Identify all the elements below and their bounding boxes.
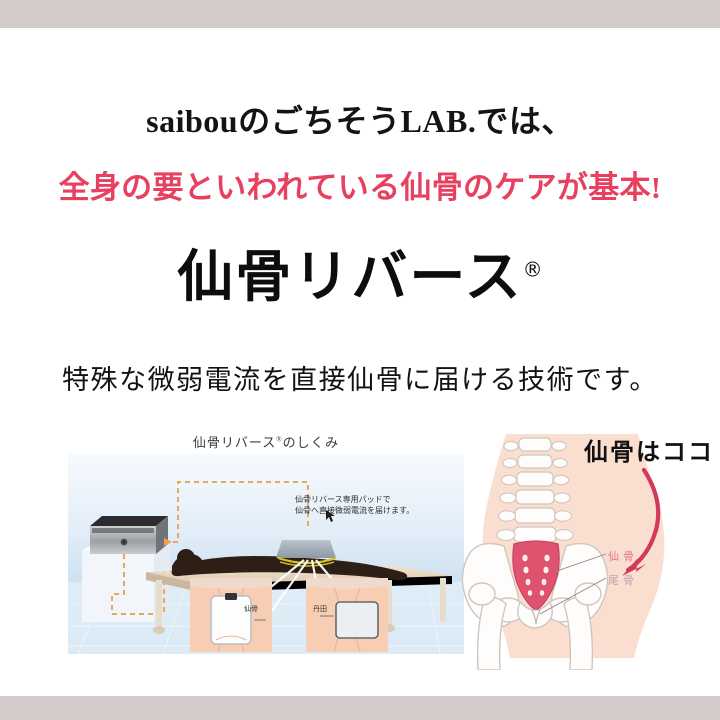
inset-tanden bbox=[306, 578, 388, 652]
diagram-artwork bbox=[68, 454, 464, 654]
anatomy-label-sacrum: 仙骨 bbox=[608, 548, 638, 564]
pad-annotation: 仙骨リバース専用パッドで 仙骨へ直接微弱電流を届けます。 bbox=[295, 494, 414, 516]
stimulator-device bbox=[90, 516, 168, 554]
diagram-title-brand: 仙骨リバース bbox=[193, 435, 276, 450]
pad-annotation-line-1: 仙骨リバース専用パッドで bbox=[295, 494, 414, 505]
diagram-stage: 仙骨リバース専用パッドで 仙骨へ直接微弱電流を届けます。 仙骨 丹田 bbox=[68, 454, 464, 654]
mechanism-diagram: 仙骨リバース®のしくみ bbox=[68, 432, 464, 654]
registered-trademark-icon: ® bbox=[523, 257, 543, 281]
top-band bbox=[0, 0, 720, 28]
inset-sacrum bbox=[190, 578, 272, 652]
heading-line-1: saibouのごちそうLAB.では、 bbox=[0, 96, 720, 142]
subtitle-handwritten: 特殊な微弱電流を直接仙骨に届ける技術です。 bbox=[0, 358, 720, 397]
diagram-title: 仙骨リバース®のしくみ bbox=[68, 432, 464, 451]
bottom-band bbox=[0, 696, 720, 720]
pad-annotation-line-2: 仙骨へ直接微弱電流を届けます。 bbox=[295, 505, 414, 516]
anatomy-label-coccyx: 尾骨 bbox=[608, 572, 638, 588]
brand-title-text: 仙骨リバース bbox=[177, 245, 522, 310]
inset-label-tanden: 丹田 bbox=[313, 604, 327, 614]
infographic-page: saibouのごちそうLAB.では、 全身の要といわれている仙骨のケアが基本! … bbox=[0, 0, 720, 720]
diagram-title-suffix: のしくみ bbox=[283, 435, 340, 450]
handwritten-callout: 仙骨はココ bbox=[584, 432, 714, 467]
inset-label-sacrum: 仙骨 bbox=[244, 604, 258, 614]
anatomy-illustration: 仙骨はココ bbox=[462, 424, 718, 670]
heading-line-2: 全身の要といわれている仙骨のケアが基本! bbox=[0, 162, 720, 207]
brand-title: 仙骨リバース® bbox=[0, 232, 720, 313]
